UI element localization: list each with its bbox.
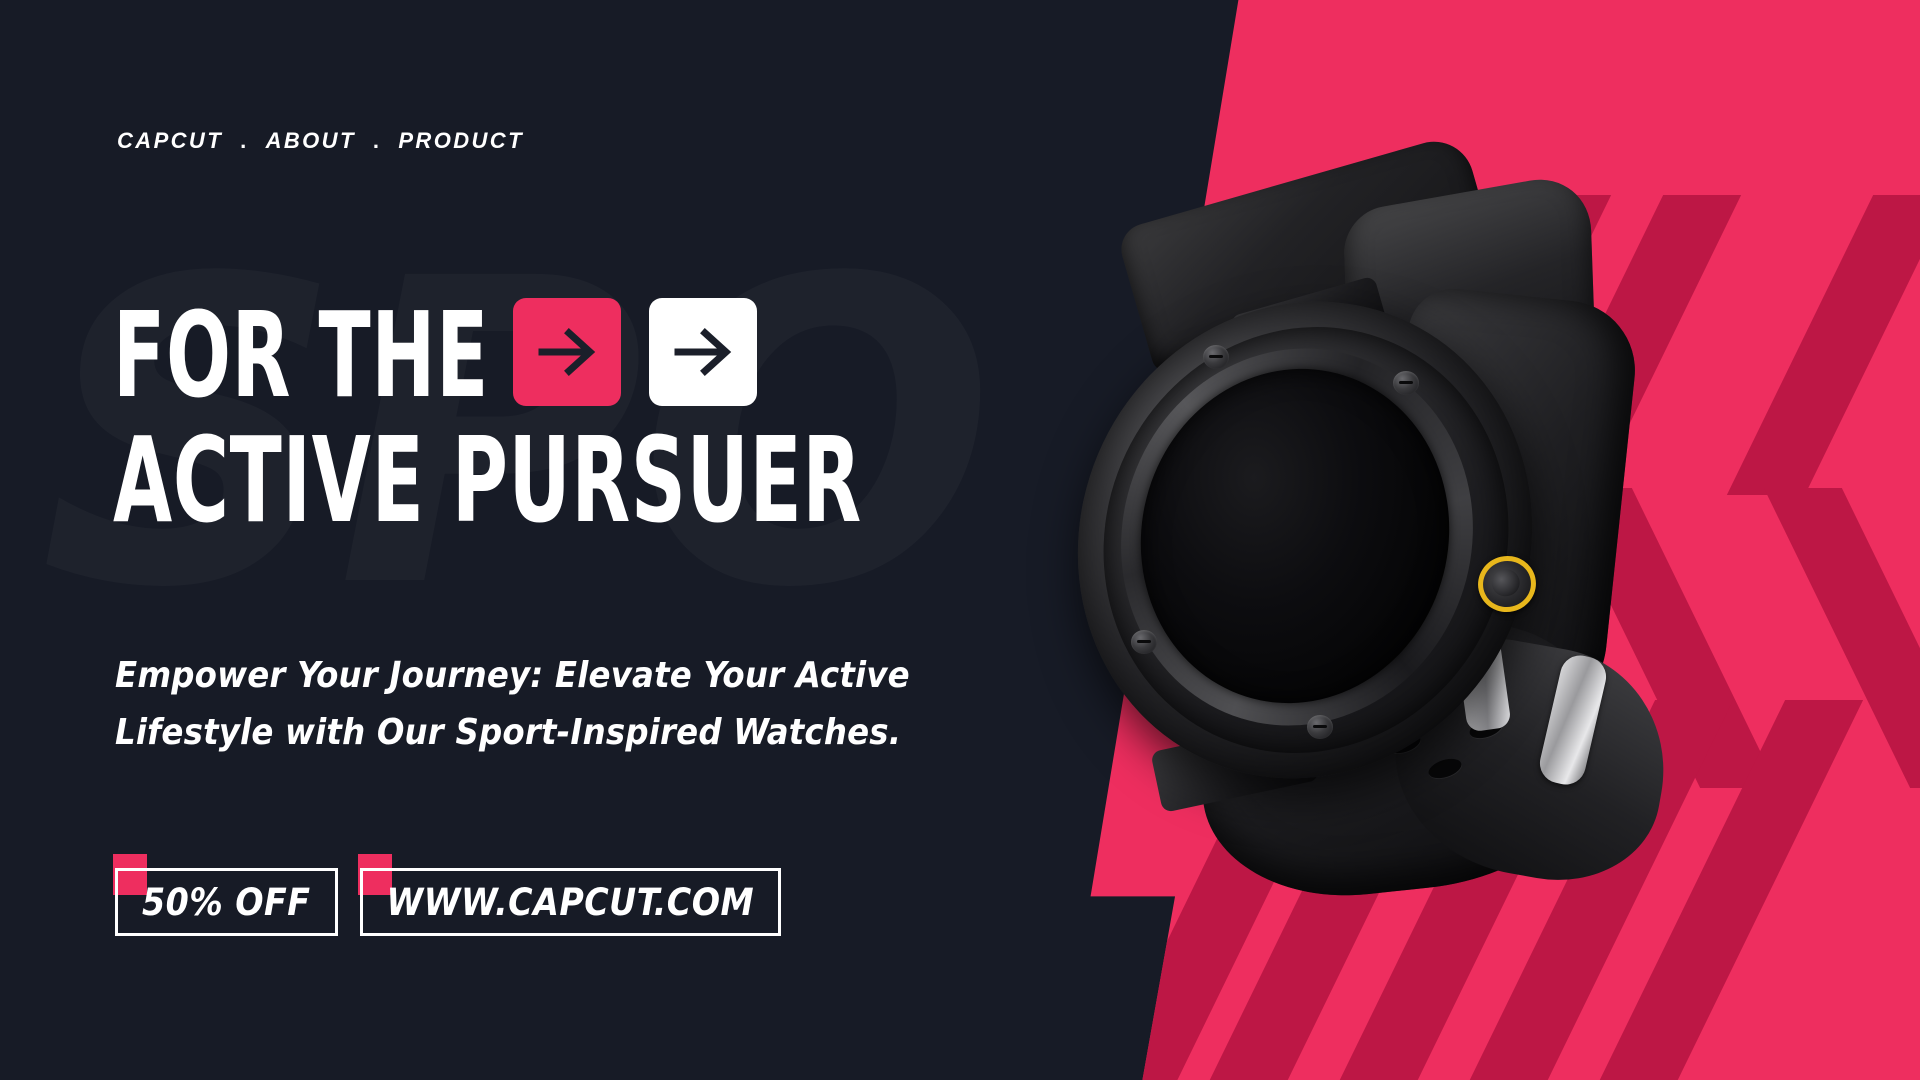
nav-separator-1: . [223,128,266,154]
website-badge-label: WWW.CAPCUT.COM [387,881,755,924]
subtitle-line-1: Empower Your Journey: Elevate Your Activ… [115,648,995,705]
product-image-smartwatch [1095,175,1795,895]
discount-badge[interactable]: 50% OFF [115,868,338,936]
bezel-screw-bottom-right [1307,715,1333,739]
website-badge[interactable]: WWW.CAPCUT.COM [360,868,782,936]
hero-banner: SPO CAPCUT . ABOUT . PRODUCT FOR THE [0,0,1920,1080]
website-badge-box: WWW.CAPCUT.COM [360,868,782,936]
hero-subtitle: Empower Your Journey: Elevate Your Activ… [115,648,995,762]
badge-row: 50% OFF WWW.CAPCUT.COM [115,868,781,936]
arrow-right-icon [672,321,734,383]
discount-badge-box: 50% OFF [115,868,338,936]
headline-row-1: FOR THE [113,300,1153,411]
headline-line-1: FOR THE [113,300,489,411]
headline-line-2: ACTIVE PURSUER [113,425,862,536]
top-navigation: CAPCUT . ABOUT . PRODUCT [117,128,524,154]
next-arrow-pink-button[interactable] [513,298,621,406]
nav-item-capcut[interactable]: CAPCUT [117,128,223,154]
arrow-button-group [513,298,757,406]
nav-separator-2: . [356,128,399,154]
nav-item-about[interactable]: ABOUT [266,128,356,154]
hero-content: SPO CAPCUT . ABOUT . PRODUCT FOR THE [0,0,1200,1080]
subtitle-line-2: Lifestyle with Our Sport-Inspired Watche… [115,705,995,762]
discount-badge-label: 50% OFF [142,881,311,924]
hero-headline: FOR THE ACTIV [113,300,1153,536]
bezel-screw-top-left [1203,345,1229,369]
bezel-screw-top-right [1393,371,1419,395]
next-arrow-white-button[interactable] [649,298,757,406]
nav-item-product[interactable]: PRODUCT [398,128,524,154]
arrow-right-icon [536,321,598,383]
